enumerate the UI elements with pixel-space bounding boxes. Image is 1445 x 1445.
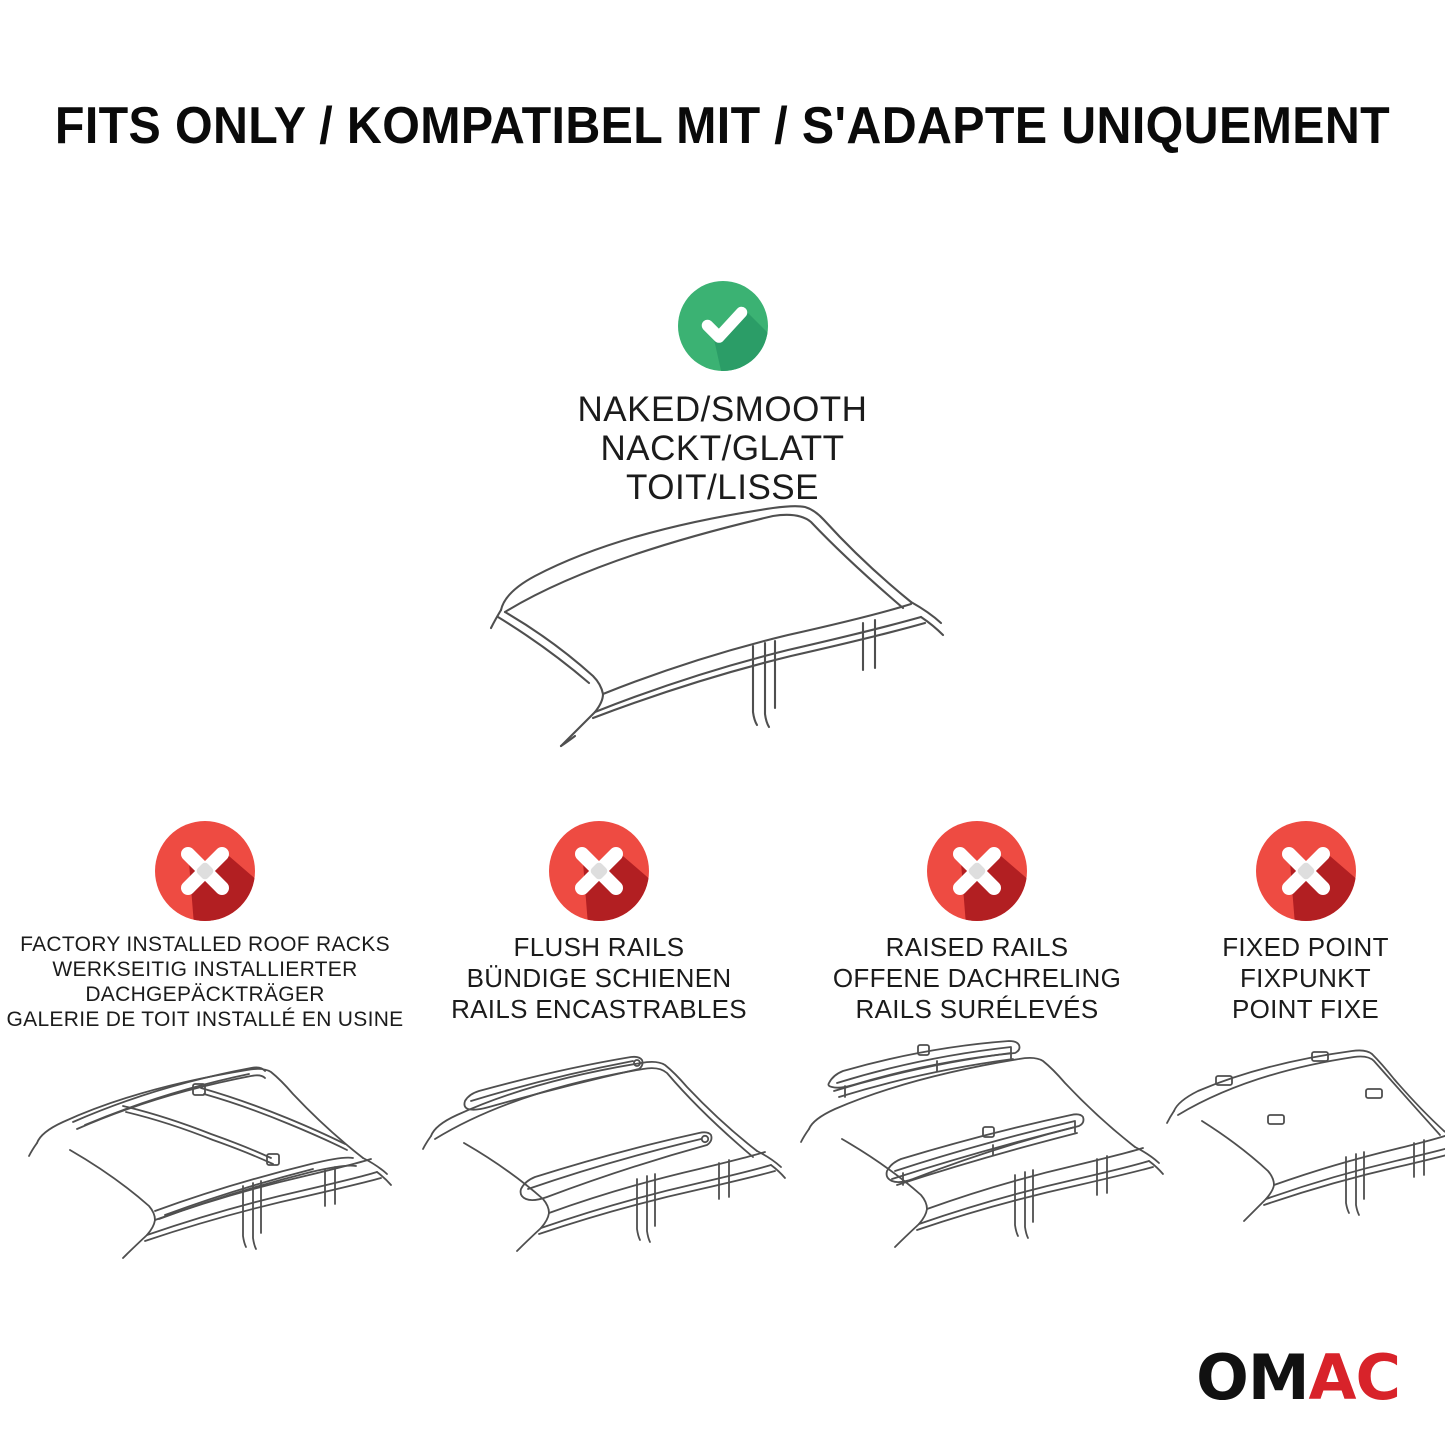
incompatible-labels: RAISED RAILS OFFENE DACHRELING RAILS SUR…: [833, 932, 1121, 1025]
page-title: FITS ONLY / KOMPATIBEL MIT / S'ADAPTE UN…: [51, 96, 1395, 156]
incompatible-item-fixed-point: FIXED POINT FIXPUNKT POINT FIXE: [1166, 820, 1445, 1254]
label-en: FLUSH RAILS: [451, 932, 747, 963]
label-de: BÜNDIGE SCHIENEN: [451, 963, 747, 994]
logo-text-red: AC: [1309, 1341, 1400, 1414]
label-de-line1: WERKSEITIG INSTALLIERTER: [7, 957, 404, 982]
label-en: FIXED POINT: [1222, 932, 1389, 963]
x-circle-icon: [1255, 820, 1357, 922]
logo-text-black: OM: [1196, 1341, 1308, 1414]
brand-logo: OMAC: [1196, 1347, 1400, 1409]
label-fr: RAILS SURÉLEVÉS: [833, 994, 1121, 1025]
label-de: FIXPUNKT: [1222, 963, 1389, 994]
compatible-label-de: NACKT/GLATT: [578, 429, 868, 468]
factory-roof-rack-illustration: [15, 1046, 395, 1261]
check-circle-icon: [677, 280, 769, 372]
label-en: RAISED RAILS: [833, 932, 1121, 963]
infographic-page: FITS ONLY / KOMPATIBEL MIT / S'ADAPTE UN…: [0, 0, 1445, 1445]
flush-rails-roof-illustration: [409, 1039, 789, 1254]
x-circle-icon: [548, 820, 650, 922]
incompatible-labels: FLUSH RAILS BÜNDIGE SCHIENEN RAILS ENCAS…: [451, 932, 747, 1025]
incompatible-section: FACTORY INSTALLED ROOF RACKS WERKSEITIG …: [0, 820, 1445, 1261]
incompatible-labels: FIXED POINT FIXPUNKT POINT FIXE: [1222, 932, 1389, 1025]
label-fr: GALERIE DE TOIT INSTALLÉ EN USINE: [7, 1007, 404, 1032]
compatible-section: NAKED/SMOOTH NACKT/GLATT TOIT/LISSE: [0, 280, 1445, 507]
incompatible-item-factory-roof-racks: FACTORY INSTALLED ROOF RACKS WERKSEITIG …: [0, 820, 410, 1261]
label-en: FACTORY INSTALLED ROOF RACKS: [7, 932, 404, 957]
incompatible-item-flush-rails: FLUSH RAILS BÜNDIGE SCHIENEN RAILS ENCAS…: [410, 820, 788, 1254]
naked-smooth-roof-illustration: [443, 480, 1003, 750]
label-de-line2: DACHGEPÄCKTRÄGER: [7, 982, 404, 1007]
incompatible-labels: FACTORY INSTALLED ROOF RACKS WERKSEITIG …: [7, 932, 404, 1032]
fixed-point-roof-illustration: [1156, 1039, 1445, 1254]
incompatible-item-raised-rails: RAISED RAILS OFFENE DACHRELING RAILS SUR…: [788, 820, 1166, 1254]
label-fr: POINT FIXE: [1222, 994, 1389, 1025]
label-fr: RAILS ENCASTRABLES: [451, 994, 747, 1025]
compatible-label-en: NAKED/SMOOTH: [578, 390, 868, 429]
x-circle-icon: [926, 820, 1028, 922]
label-de: OFFENE DACHRELING: [833, 963, 1121, 994]
x-circle-icon: [154, 820, 256, 922]
raised-rails-roof-illustration: [787, 1039, 1167, 1254]
